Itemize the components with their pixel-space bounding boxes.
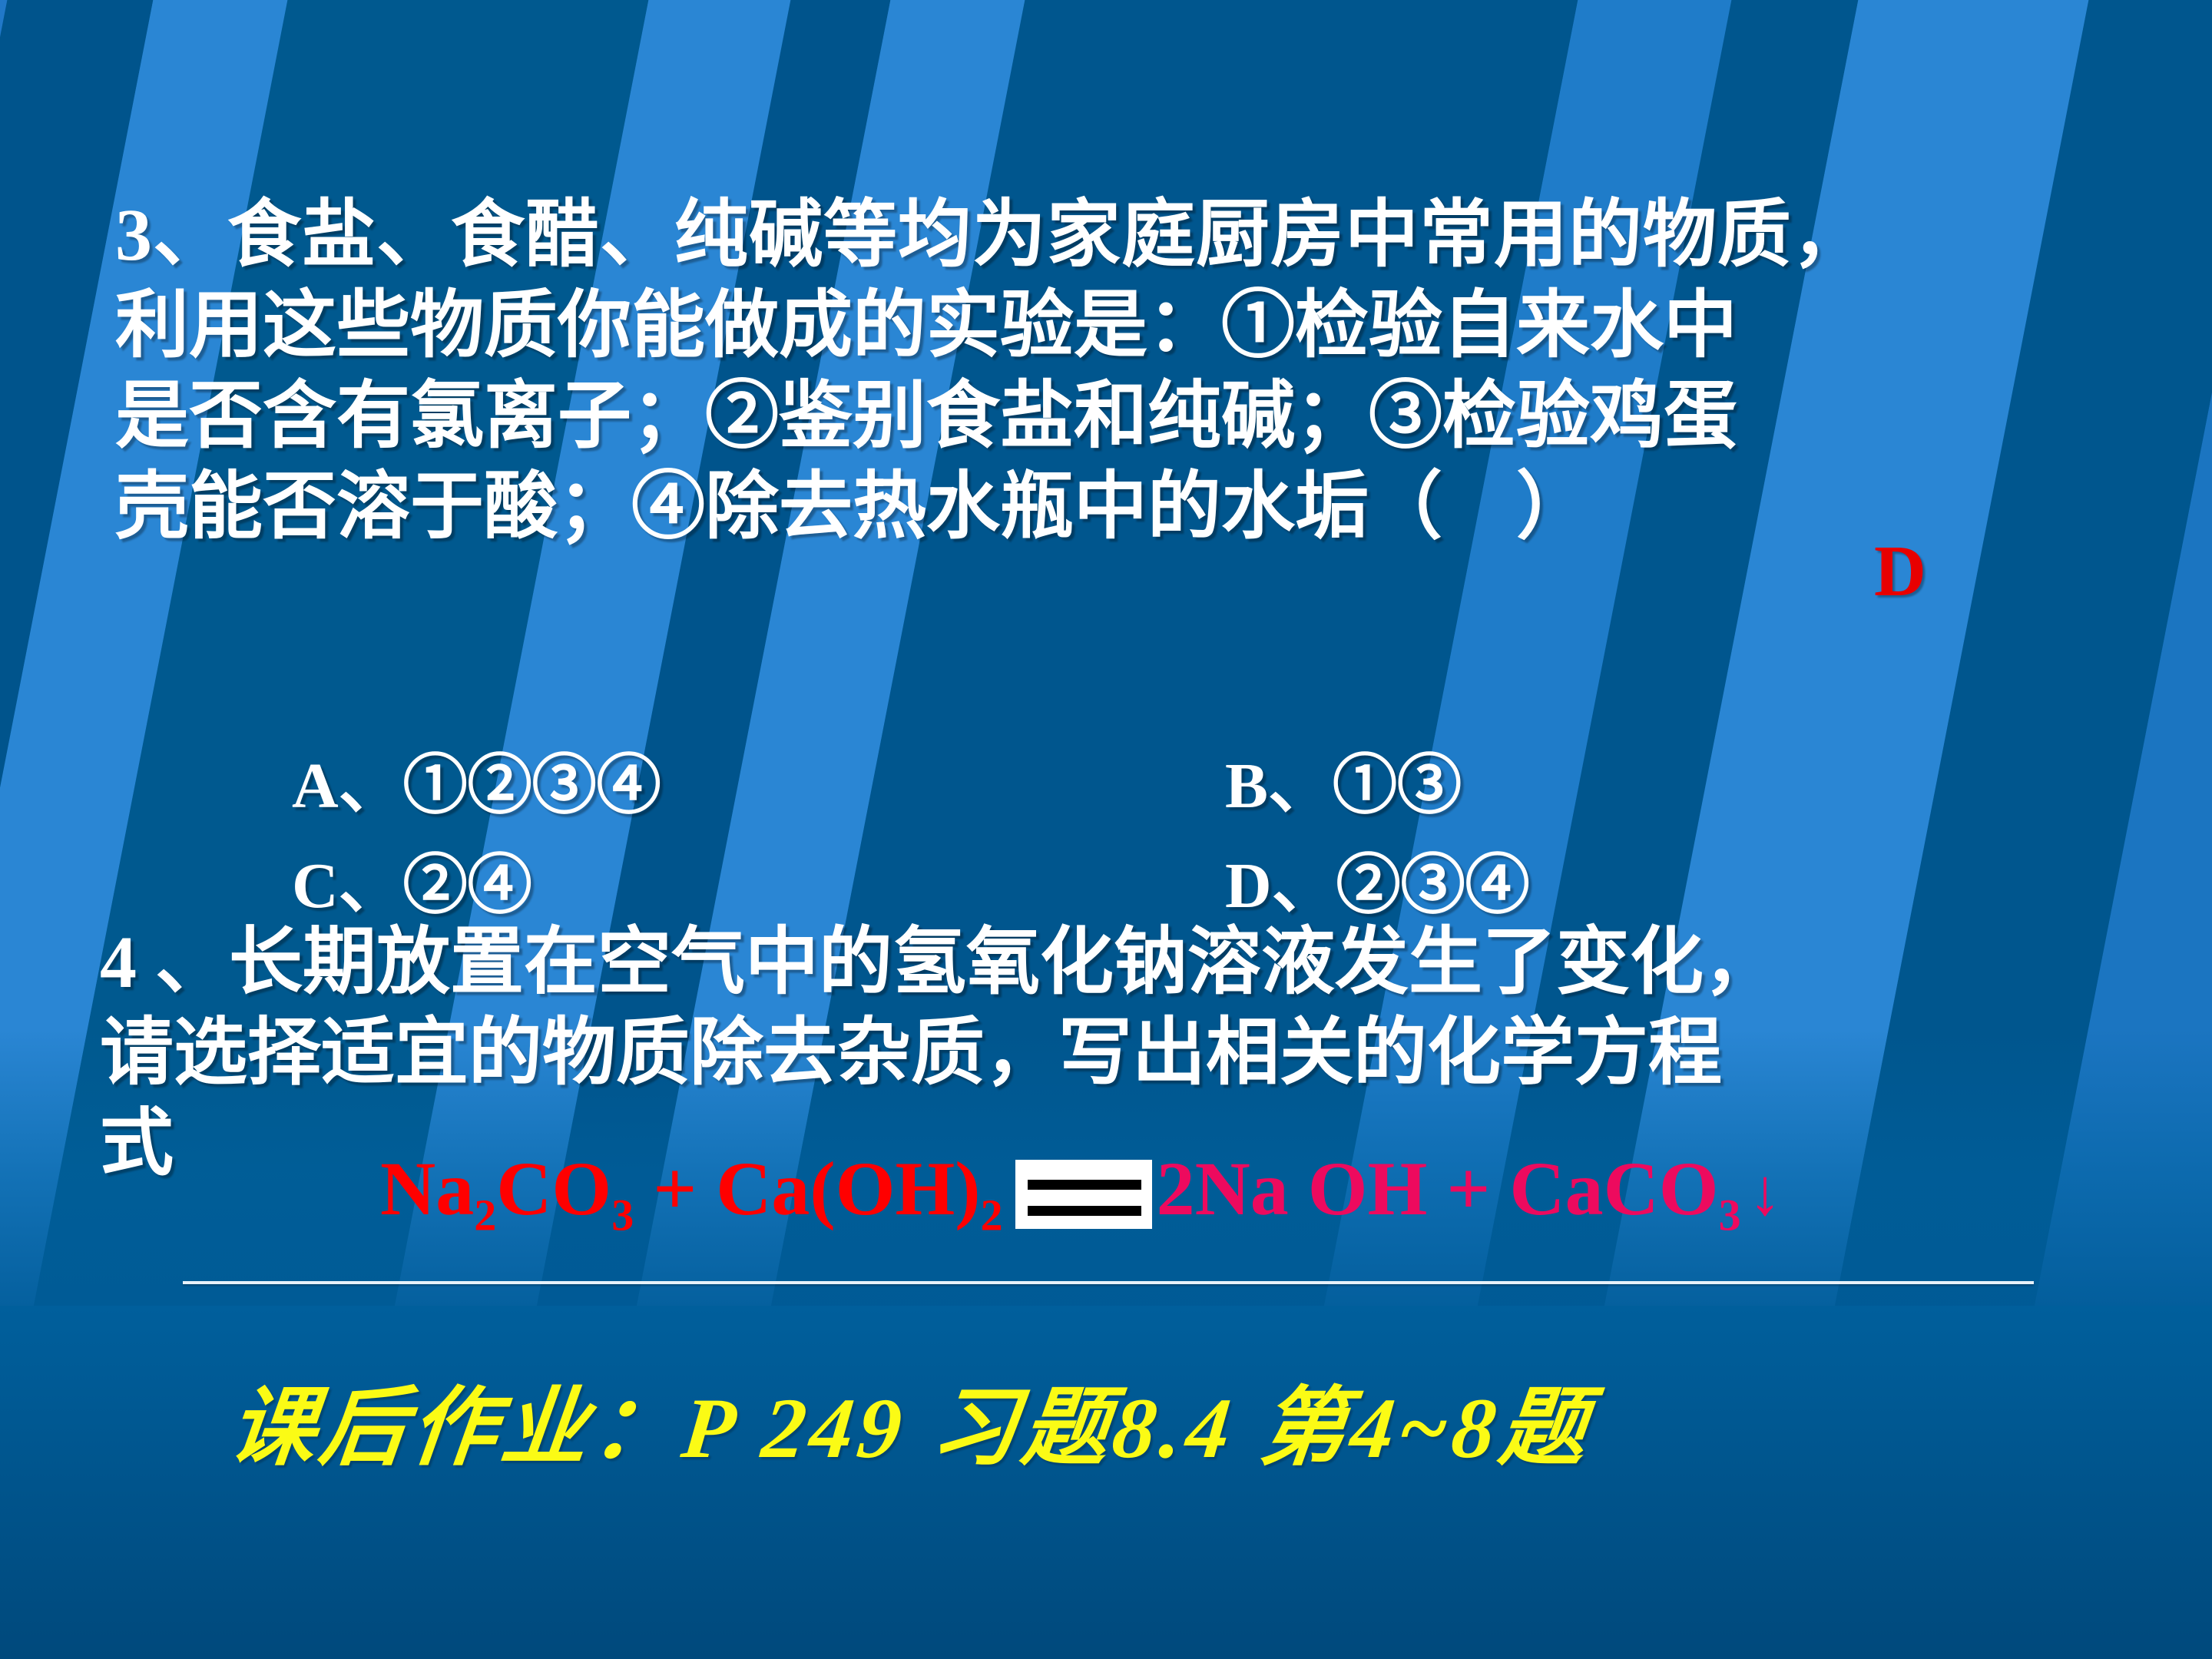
option-a[interactable]: A、①②③④ [292, 733, 661, 826]
reactant-na-subscript: 2 [474, 1190, 496, 1240]
reactant-na: Na [380, 1146, 474, 1231]
equation-products: 2Na OH + CaCO3↓ [1157, 1151, 1782, 1237]
reactant-ca-oh-subscript: 2 [981, 1190, 1003, 1240]
equation-reactants: Na2CO3 + Ca(OH)2 [380, 1151, 1003, 1237]
question-3-text: 3、食盐、食醋、纯碱等均为家庭厨房中常用的物质， 利用这些物质你能做成的实验是：… [115, 198, 1866, 561]
reactant-calcium-hydroxide: Ca(OH) [716, 1146, 980, 1231]
presentation-slide: 3、食盐、食醋、纯碱等均为家庭厨房中常用的物质， 利用这些物质你能做成的实验是：… [0, 0, 2212, 1659]
question-3-line-3: 是否含有氯离子；②鉴别食盐和纯碱；③检验鸡蛋 [115, 379, 1866, 470]
equals-bar-bottom [1028, 1206, 1141, 1216]
question-3-line-2: 利用这些物质你能做成的实验是：①检验自来水中 [115, 289, 1866, 379]
reactant-plus-sign: + [653, 1146, 697, 1231]
question-4-line-2: 请选择适宜的物质除去杂质，写出相关的化学方程 [100, 1016, 1777, 1107]
precipitate-arrow-icon: ↓ [1741, 1155, 1782, 1229]
equation-equals-sign-box [1015, 1160, 1152, 1229]
product-plus-sign: + [1446, 1146, 1490, 1231]
product-sodium-hydroxide: 2Na OH [1157, 1146, 1428, 1231]
horizontal-divider [183, 1281, 2034, 1284]
question-3-line-4: 壳能否溶于酸；④除去热水瓶中的水垢（ ） [115, 470, 1866, 561]
equals-bar-top [1028, 1180, 1141, 1190]
chemical-equation: Na2CO3 + Ca(OH)2 2Na OH + CaCO3↓ [380, 1151, 1782, 1237]
homework-assignment: 课后作业：P 249 习题8.4 第4~8题 [224, 1358, 1598, 1482]
question-3-line-1: 3、食盐、食醋、纯碱等均为家庭厨房中常用的物质， [115, 198, 1866, 289]
option-d[interactable]: D、②③④ [1225, 833, 1530, 926]
reactant-co: CO [496, 1146, 611, 1231]
product-calcium-carbonate: CaCO [1509, 1146, 1718, 1231]
reactant-co-subscript: 3 [611, 1190, 634, 1240]
question-4-line-1: 4 、长期放置在空气中的氢氧化钠溶液发生了变化， [100, 926, 1777, 1016]
option-c[interactable]: C、②④ [292, 833, 532, 926]
question-3-answer: D [1874, 530, 1926, 613]
product-caco-subscript: 3 [1719, 1190, 1741, 1240]
option-b[interactable]: B、①③ [1225, 733, 1462, 826]
